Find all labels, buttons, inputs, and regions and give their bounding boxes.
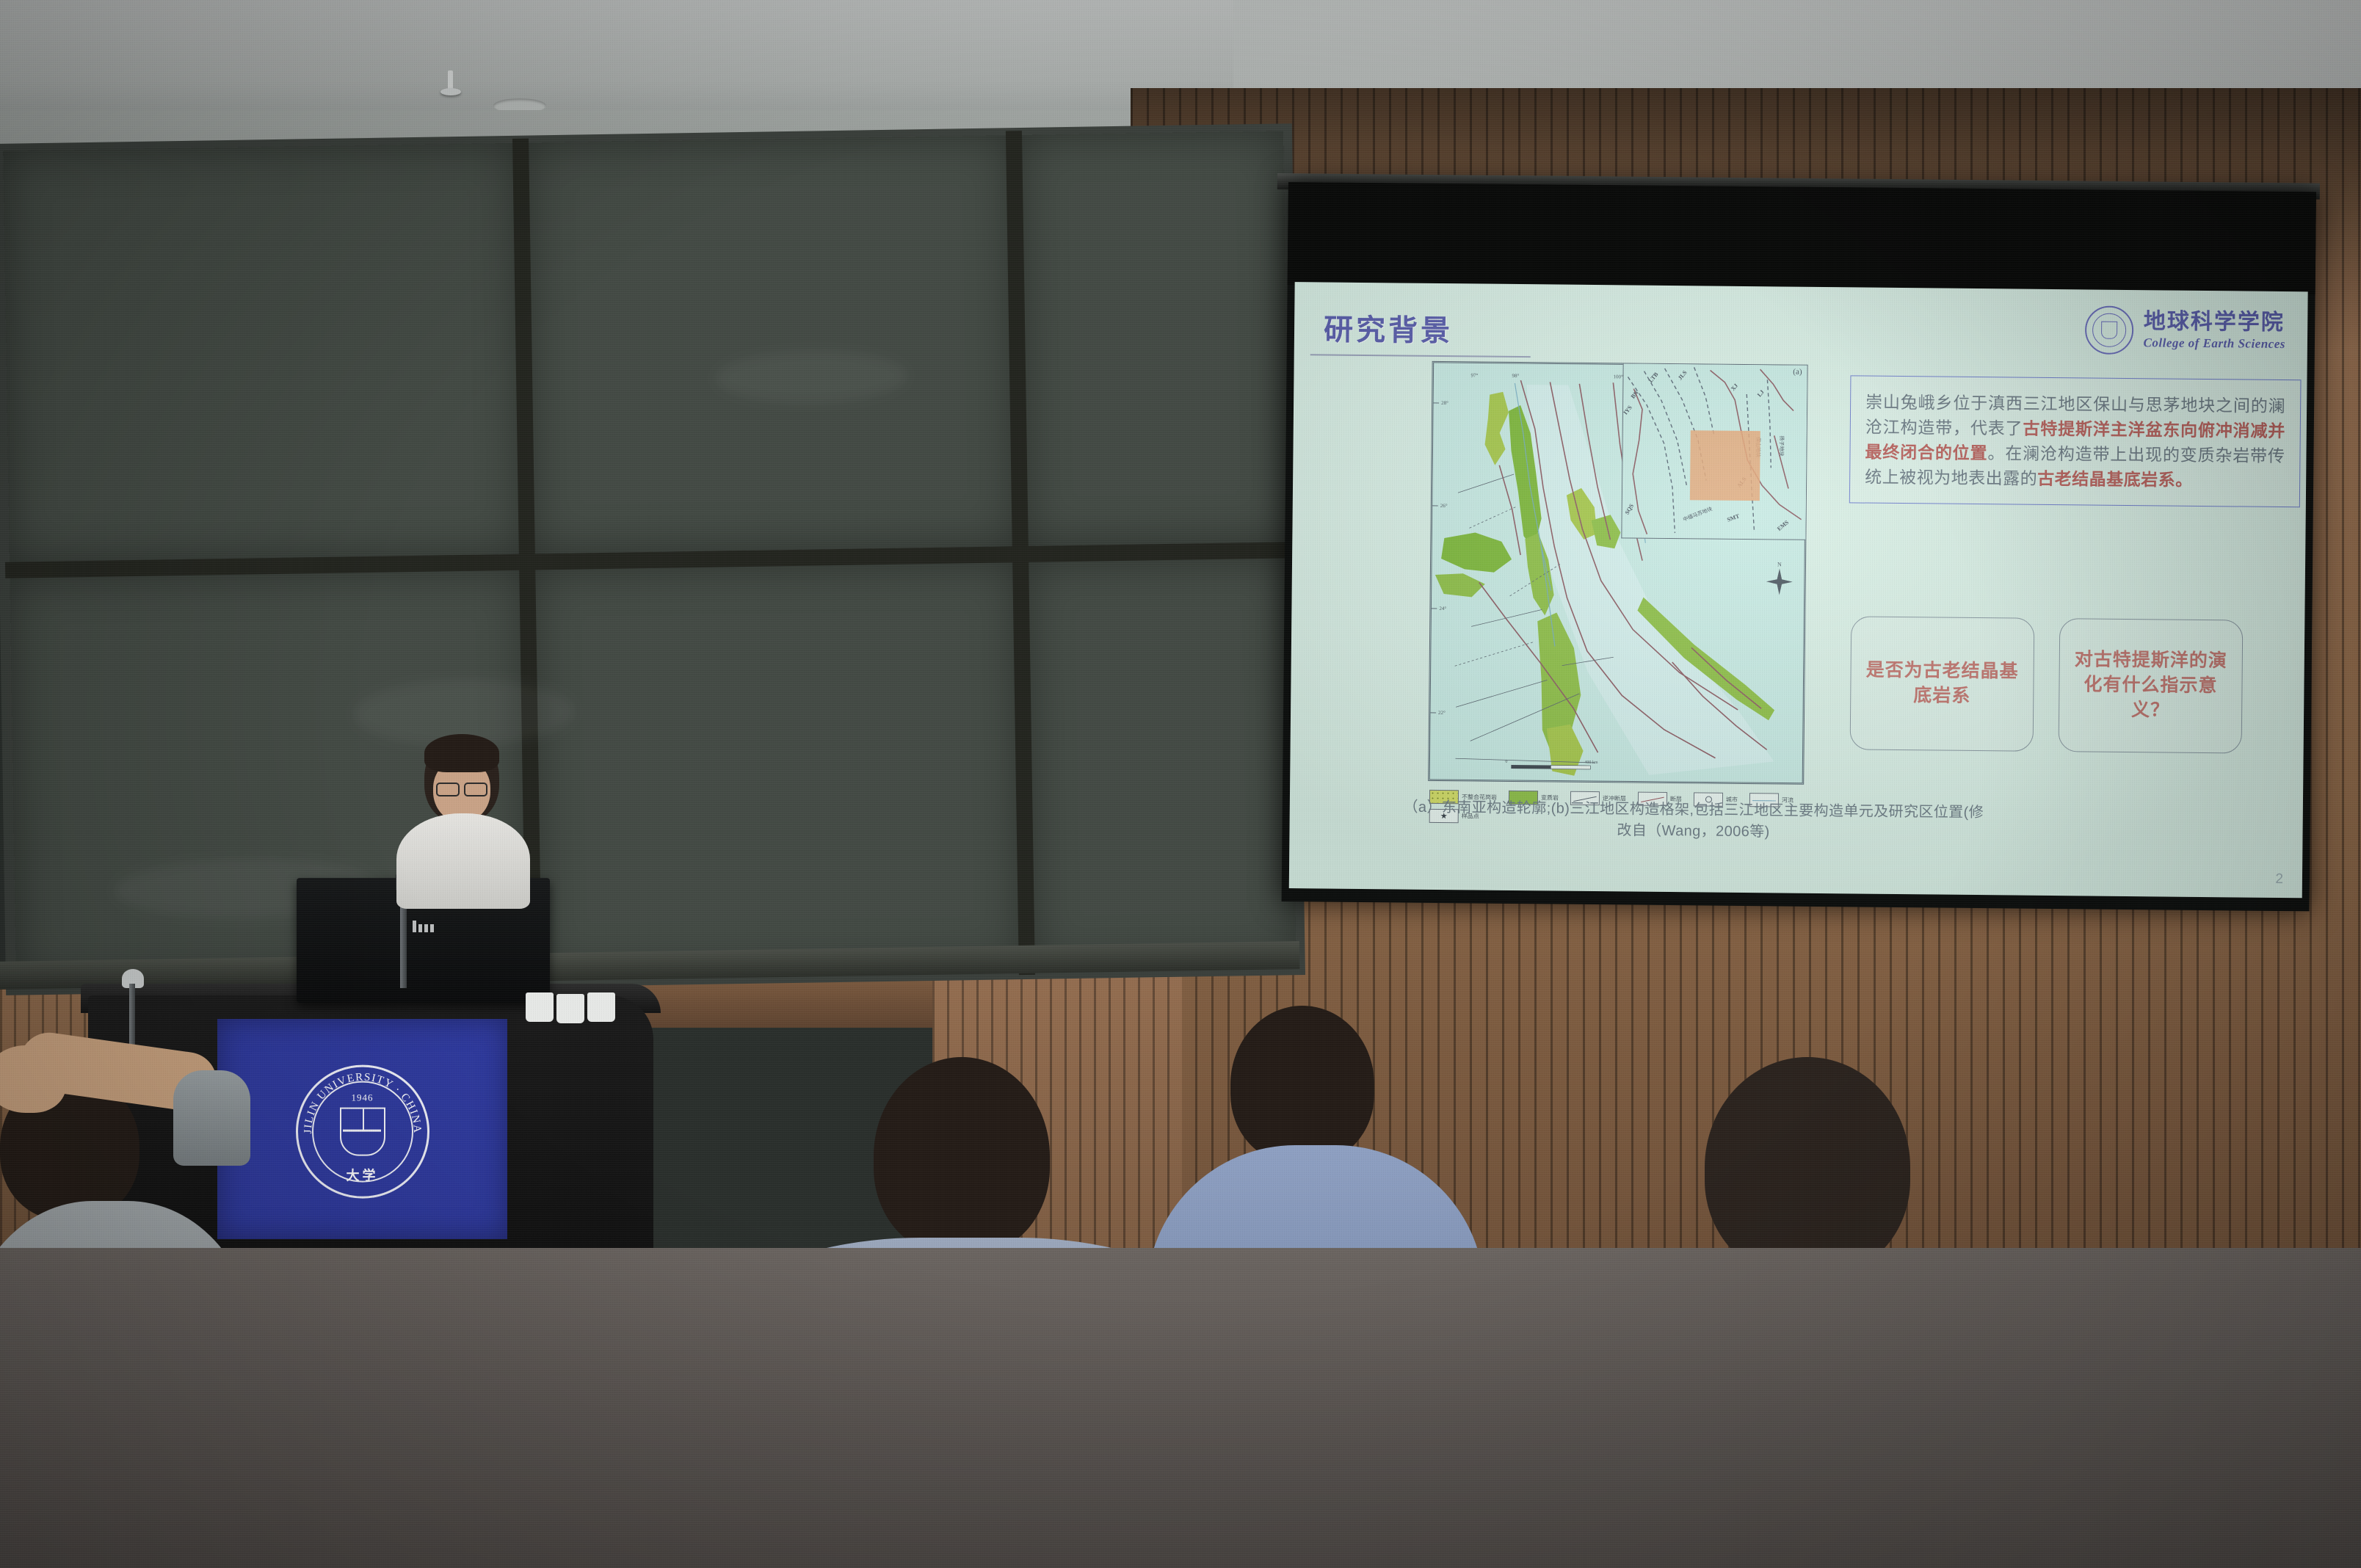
blackboard bbox=[0, 123, 1305, 995]
question-box-2: 对古特提斯洋的演化有什么指示意义？ bbox=[2059, 618, 2244, 753]
question-boxes: 是否为古老结晶基底岩系 对古特提斯洋的演化有什么指示意义？ bbox=[1850, 616, 2244, 753]
inset-map-graphic: LTB JLS BN IYS XJ LJ SMT EMS SQS ALS bbox=[1622, 363, 1807, 539]
head bbox=[1705, 1057, 1910, 1277]
monitor-logo-icon bbox=[411, 919, 436, 934]
inset-map: LTB JLS BN IYS XJ LJ SMT EMS SQS ALS bbox=[1621, 363, 1807, 540]
study-area-box bbox=[1690, 430, 1760, 501]
slide-text-panel: 崇山兔峨乡位于滇西三江地区保山与思茅地块之间的澜沧江构造带，代表了古特提斯洋主洋… bbox=[1849, 375, 2302, 507]
svg-text:22°: 22° bbox=[1438, 710, 1446, 716]
presenter-torso bbox=[396, 813, 530, 909]
body-segment-highlight: 古老结晶基底岩系。 bbox=[2037, 469, 2193, 490]
sleeve bbox=[173, 1070, 250, 1166]
floor bbox=[0, 1248, 2361, 1568]
projection-screen: 研究背景 地球科学学院 College of Earth Sciences bbox=[1282, 182, 2316, 911]
presenter bbox=[396, 734, 530, 910]
head bbox=[874, 1057, 1050, 1255]
svg-text:24°: 24° bbox=[1439, 606, 1446, 611]
screen-mask bbox=[1288, 182, 2316, 294]
svg-text:98°: 98° bbox=[1512, 373, 1519, 379]
svg-text:扬子地块: 扬子地块 bbox=[1778, 435, 1785, 456]
question-text: 是否为古老结晶基底岩系 bbox=[1851, 658, 2034, 710]
head bbox=[1230, 1006, 1374, 1164]
slide-page-number: 2 bbox=[2275, 871, 2283, 888]
svg-text:N: N bbox=[1777, 561, 1782, 567]
figure-caption: （a）东南亚构造轮廓;(b)三江地区构造格架,包括三江地区主要构造单元及研究区位… bbox=[1399, 796, 1987, 845]
question-box-1: 是否为古老结晶基底岩系 bbox=[1850, 616, 2035, 751]
hand bbox=[0, 1045, 66, 1113]
svg-text:400 km: 400 km bbox=[1584, 761, 1598, 765]
slide-body-text: 崇山兔峨乡位于滇西三江地区保山与思茅地块之间的澜沧江构造带，代表了古特提斯洋主洋… bbox=[1865, 390, 2285, 494]
question-text: 对古特提斯洋的演化有什么指示意义？ bbox=[2059, 647, 2242, 724]
paper-cups bbox=[526, 992, 636, 1023]
slide-title: 研究背景 bbox=[1324, 305, 1454, 349]
svg-text:97°: 97° bbox=[1470, 372, 1478, 378]
geological-map-figure: 28° 26° 24° 22° 97° 98° 100° 0 400 km bbox=[1428, 361, 1807, 785]
svg-text:28°: 28° bbox=[1441, 400, 1448, 406]
logo-label-cn: 地球科学学院 bbox=[2144, 311, 2286, 334]
presentation-slide: 研究背景 地球科学学院 College of Earth Sciences bbox=[1289, 282, 2308, 898]
presenter-hair bbox=[424, 734, 499, 772]
compass-rose-icon: N bbox=[1763, 559, 1797, 603]
inset-label: (a) bbox=[1793, 368, 1802, 377]
logo-label-en: College of Earth Sciences bbox=[2143, 335, 2285, 352]
svg-text:100°: 100° bbox=[1613, 374, 1623, 380]
lecture-hall-photo: 研究背景 地球科学学院 College of Earth Sciences bbox=[0, 0, 2361, 1568]
glasses-icon bbox=[436, 783, 487, 794]
title-underline bbox=[1310, 354, 1531, 357]
department-logo: 地球科学学院 College of Earth Sciences bbox=[2084, 305, 2285, 356]
seal-icon bbox=[2084, 305, 2133, 355]
svg-text:0: 0 bbox=[1505, 760, 1507, 764]
svg-text:26°: 26° bbox=[1440, 503, 1448, 509]
